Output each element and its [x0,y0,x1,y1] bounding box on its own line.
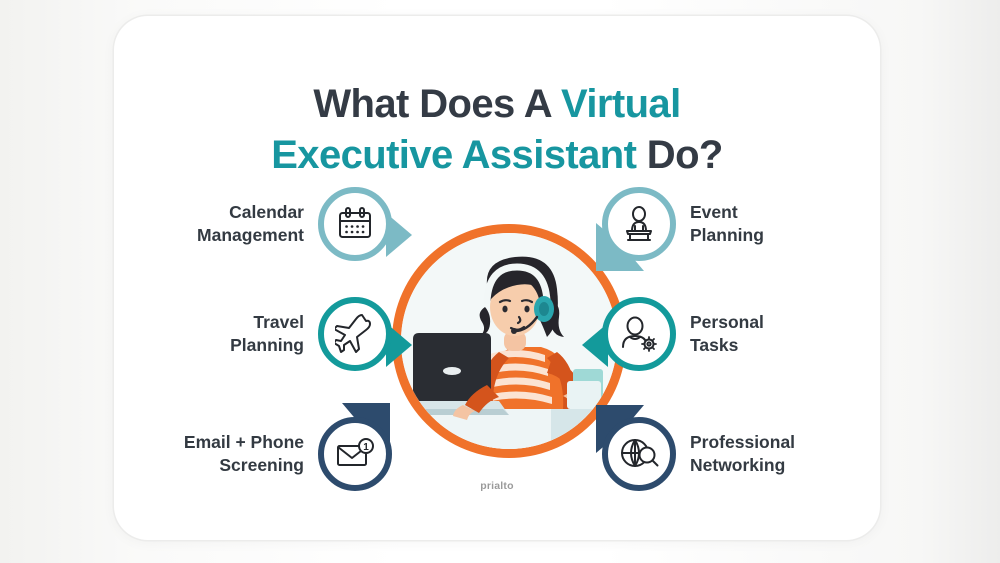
podium-speaker-icon [602,187,676,261]
infographic-canvas: What Does A Virtual Executive Assistant … [0,0,1000,563]
topic-label-personal-tasks: Personal Tasks [690,311,764,357]
badge-professional-networking[interactable] [602,417,676,491]
globe-search-icon [602,417,676,491]
topic-label-event-planning: Event Planning [690,201,764,247]
topic-label-professional-networking: Professional Networking [690,431,795,477]
user-gear-icon [602,297,676,371]
email-badge-count: 1 [363,442,369,453]
title-text-plain-2: Do? [636,133,722,177]
title-text-plain-1: What Does A [313,82,561,126]
title-text-accent-2: Executive Assistant [271,133,636,177]
topic-travel-planning[interactable]: Travel Planning [142,288,392,380]
badge-calendar-management[interactable] [318,187,392,261]
badge-travel-planning[interactable] [318,297,392,371]
badge-email-phone-screening[interactable]: 1 [318,417,392,491]
badge-personal-tasks[interactable] [602,297,676,371]
topic-label-email-phone-screening: Email + Phone Screening [184,431,304,477]
topic-calendar-management[interactable]: Calendar Management [142,178,392,270]
calendar-icon [318,187,392,261]
title-line-2: Executive Assistant Do? [114,130,880,181]
topic-personal-tasks[interactable]: Personal Tasks [602,288,852,380]
page-title: What Does A Virtual Executive Assistant … [114,79,880,181]
badge-event-planning[interactable] [602,187,676,261]
infographic-card: What Does A Virtual Executive Assistant … [114,16,880,540]
topic-label-travel-planning: Travel Planning [230,311,304,357]
title-line-1: What Does A Virtual [114,79,880,130]
topic-event-planning[interactable]: Event Planning [602,178,852,270]
brand-logo: prialto [114,480,880,492]
airplane-icon [318,297,392,371]
envelope-notification-icon: 1 [318,417,392,491]
topic-label-calendar-management: Calendar Management [197,201,304,247]
title-text-accent-1: Virtual [561,82,681,126]
